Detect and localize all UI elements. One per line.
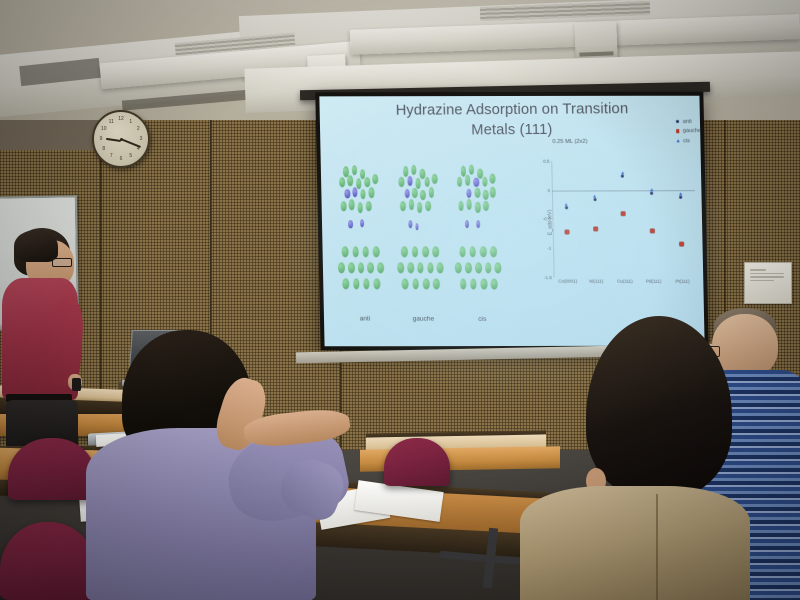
audience-tan-torso bbox=[520, 486, 750, 600]
chart-y-axis-label: E_ads (eV) bbox=[547, 210, 554, 235]
y-tick-2: -0.5 bbox=[543, 217, 551, 222]
sign-text-line-2 bbox=[750, 273, 784, 275]
data-point-gauche-Cu(111) bbox=[621, 211, 625, 215]
wall-clock: 12 1 2 3 4 5 6 7 8 9 10 11 bbox=[92, 110, 150, 168]
screen-surface: Hydrazine Adsorption on Transition Metal… bbox=[319, 96, 704, 347]
clock-numeral-2: 2 bbox=[137, 126, 140, 132]
y-tick-0: 0.5 bbox=[543, 159, 550, 164]
gauche-top-view bbox=[394, 163, 447, 238]
data-point-anti-Cu(111) bbox=[621, 174, 624, 177]
data-point-gauche-Ni(111) bbox=[593, 227, 597, 231]
x-tick-4: Pt(111) bbox=[675, 279, 689, 284]
lecture-hall-photo: Hydrazine Adsorption on Transition Metal… bbox=[0, 0, 800, 600]
molecular-structures: anti bbox=[336, 163, 512, 319]
chart-legend: anti gauche cis bbox=[676, 118, 702, 147]
structure-cis: cis bbox=[453, 163, 508, 319]
clock-hour-hand bbox=[106, 138, 121, 142]
audience-tan-hair bbox=[586, 316, 732, 498]
chart-annotation: 0.25 ML (2x2) bbox=[552, 139, 587, 145]
presenter-fringe bbox=[14, 230, 58, 262]
legend-label-gauche: gauche bbox=[683, 128, 701, 134]
clock-numeral-6: 6 bbox=[120, 156, 123, 162]
clock-numeral-12: 12 bbox=[118, 116, 124, 122]
cis-top-view bbox=[453, 163, 507, 238]
legend-item-gauche: gauche bbox=[676, 128, 701, 134]
clock-center-pin bbox=[120, 138, 123, 141]
legend-marker-anti-icon bbox=[676, 120, 680, 124]
data-point-anti-Pd(111) bbox=[650, 191, 653, 194]
anti-side-view bbox=[338, 243, 391, 293]
slide-title-line-1: Hydrazine Adsorption on Transition bbox=[335, 100, 692, 122]
data-point-cis-Cu(111) bbox=[621, 171, 625, 175]
chart-data-points bbox=[551, 160, 694, 161]
structure-label-anti: anti bbox=[339, 315, 391, 322]
gauche-side-view bbox=[396, 243, 449, 293]
slide-title: Hydrazine Adsorption on Transition Metal… bbox=[335, 100, 692, 142]
legend-label-cis: cis bbox=[683, 138, 690, 144]
data-point-cis-Pt(111) bbox=[679, 192, 683, 196]
structure-label-cis: cis bbox=[456, 315, 508, 322]
clock-numeral-1: 1 bbox=[129, 119, 132, 125]
cis-side-view bbox=[455, 243, 508, 293]
sign-text-line-3 bbox=[750, 276, 784, 278]
legend-item-cis: cis bbox=[676, 138, 701, 144]
legend-label-anti: anti bbox=[683, 118, 692, 124]
y-tick-3: -1 bbox=[547, 246, 551, 251]
wall-sign bbox=[744, 262, 792, 304]
x-tick-1: Ni(111) bbox=[589, 279, 603, 284]
data-point-anti-Ni(111) bbox=[593, 198, 596, 201]
x-tick-2: Cu(111) bbox=[617, 279, 633, 284]
clock-minute-hand bbox=[121, 138, 141, 147]
sign-text-line-1 bbox=[750, 269, 766, 271]
person-audience-tan bbox=[520, 316, 780, 600]
sign-text-line-4 bbox=[750, 280, 774, 282]
x-tick-3: Pd(111) bbox=[646, 279, 662, 284]
clock-numeral-11: 11 bbox=[109, 119, 114, 125]
data-point-anti-Co(0001) bbox=[565, 206, 568, 209]
y-tick-4: -1.5 bbox=[544, 275, 552, 280]
person-audience-purple bbox=[86, 330, 406, 600]
clock-numeral-10: 10 bbox=[101, 126, 107, 132]
data-point-cis-Co(0001) bbox=[564, 203, 568, 207]
presentation-clicker[interactable] bbox=[72, 378, 81, 391]
clock-numeral-7: 7 bbox=[110, 153, 113, 159]
clock-numeral-5: 5 bbox=[129, 153, 132, 159]
y-tick-1: 0 bbox=[547, 188, 550, 193]
anti-top-view bbox=[336, 164, 389, 239]
data-point-anti-Pt(111) bbox=[679, 195, 682, 198]
data-point-gauche-Pd(111) bbox=[651, 229, 655, 233]
structure-label-gauche: gauche bbox=[397, 315, 449, 322]
x-tick-0: Co(0001) bbox=[558, 279, 577, 284]
adsorption-energy-chart: 0.25 ML (2x2) anti gauche cis bbox=[516, 137, 703, 320]
structure-gauche: gauche bbox=[394, 163, 449, 319]
data-point-cis-Ni(111) bbox=[593, 195, 597, 199]
clock-numeral-3: 3 bbox=[140, 136, 143, 142]
presentation-slide: Hydrazine Adsorption on Transition Metal… bbox=[319, 96, 704, 347]
clock-numeral-8: 8 bbox=[102, 146, 105, 152]
projection-screen: Hydrazine Adsorption on Transition Metal… bbox=[315, 92, 708, 351]
chart-plot-area: E_ads (eV) 0.5 0 -0.5 -1 -1.5 Co(0001) N… bbox=[551, 160, 697, 277]
data-point-gauche-Co(0001) bbox=[565, 230, 569, 234]
legend-item-anti: anti bbox=[676, 118, 701, 124]
data-point-gauche-Pt(111) bbox=[680, 242, 684, 246]
legend-marker-cis-icon bbox=[676, 139, 680, 143]
chart-zero-line bbox=[552, 190, 695, 191]
legend-marker-gauche-icon bbox=[676, 129, 680, 133]
structure-anti: anti bbox=[336, 164, 391, 319]
presenter-glasses-icon bbox=[52, 258, 72, 267]
audience-tan-jacket-seam bbox=[656, 494, 658, 600]
clock-numeral-9: 9 bbox=[100, 136, 103, 142]
ceiling-speaker-right bbox=[574, 21, 617, 60]
